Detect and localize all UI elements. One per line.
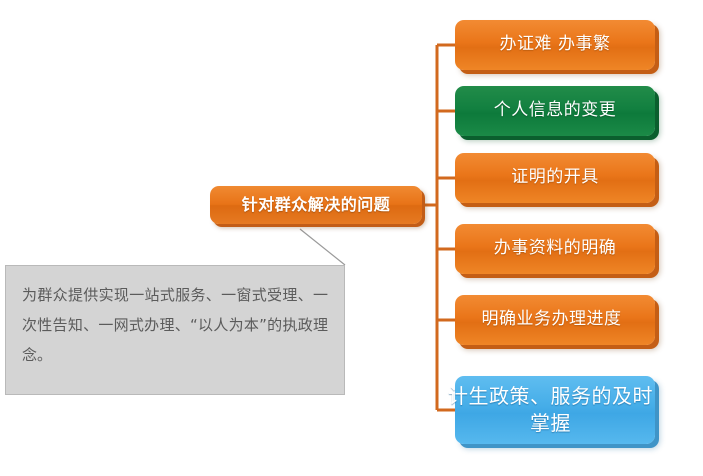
branch-node-1[interactable]: 办证难 办事繁 [455,20,655,70]
branch-node-3[interactable]: 证明的开具 [455,153,655,203]
root-node-label: 针对群众解决的问题 [210,195,422,215]
branch-node-4[interactable]: 办事资料的明确 [455,224,655,274]
branch-node-5[interactable]: 明确业务办理进度 [455,295,655,345]
callout-note-text: 为群众提供实现一站式服务、一窗式受理、一次性告知、一网式办理、“以人为本”的执政… [22,286,328,364]
branch-node-3-label: 证明的开具 [455,167,655,188]
callout-leader-line [300,229,345,265]
branch-node-6-label: 计生政策、服务的及时掌握 [446,383,655,437]
root-node[interactable]: 针对群众解决的问题 [210,186,422,224]
branch-node-6[interactable]: 计生政策、服务的及时掌握 [455,376,655,444]
branch-node-5-label: 明确业务办理进度 [448,309,655,330]
branch-node-1-label: 办证难 办事繁 [455,34,655,55]
branch-node-4-label: 办事资料的明确 [455,238,655,259]
branch-node-2[interactable]: 个人信息的变更 [455,86,655,136]
callout-note: 为群众提供实现一站式服务、一窗式受理、一次性告知、一网式办理、“以人为本”的执政… [5,265,345,395]
mind-map-diagram: 针对群众解决的问题 办证难 办事繁 个人信息的变更 证明的开具 办事资料的明确 … [0,0,703,476]
branch-node-2-label: 个人信息的变更 [455,100,655,121]
